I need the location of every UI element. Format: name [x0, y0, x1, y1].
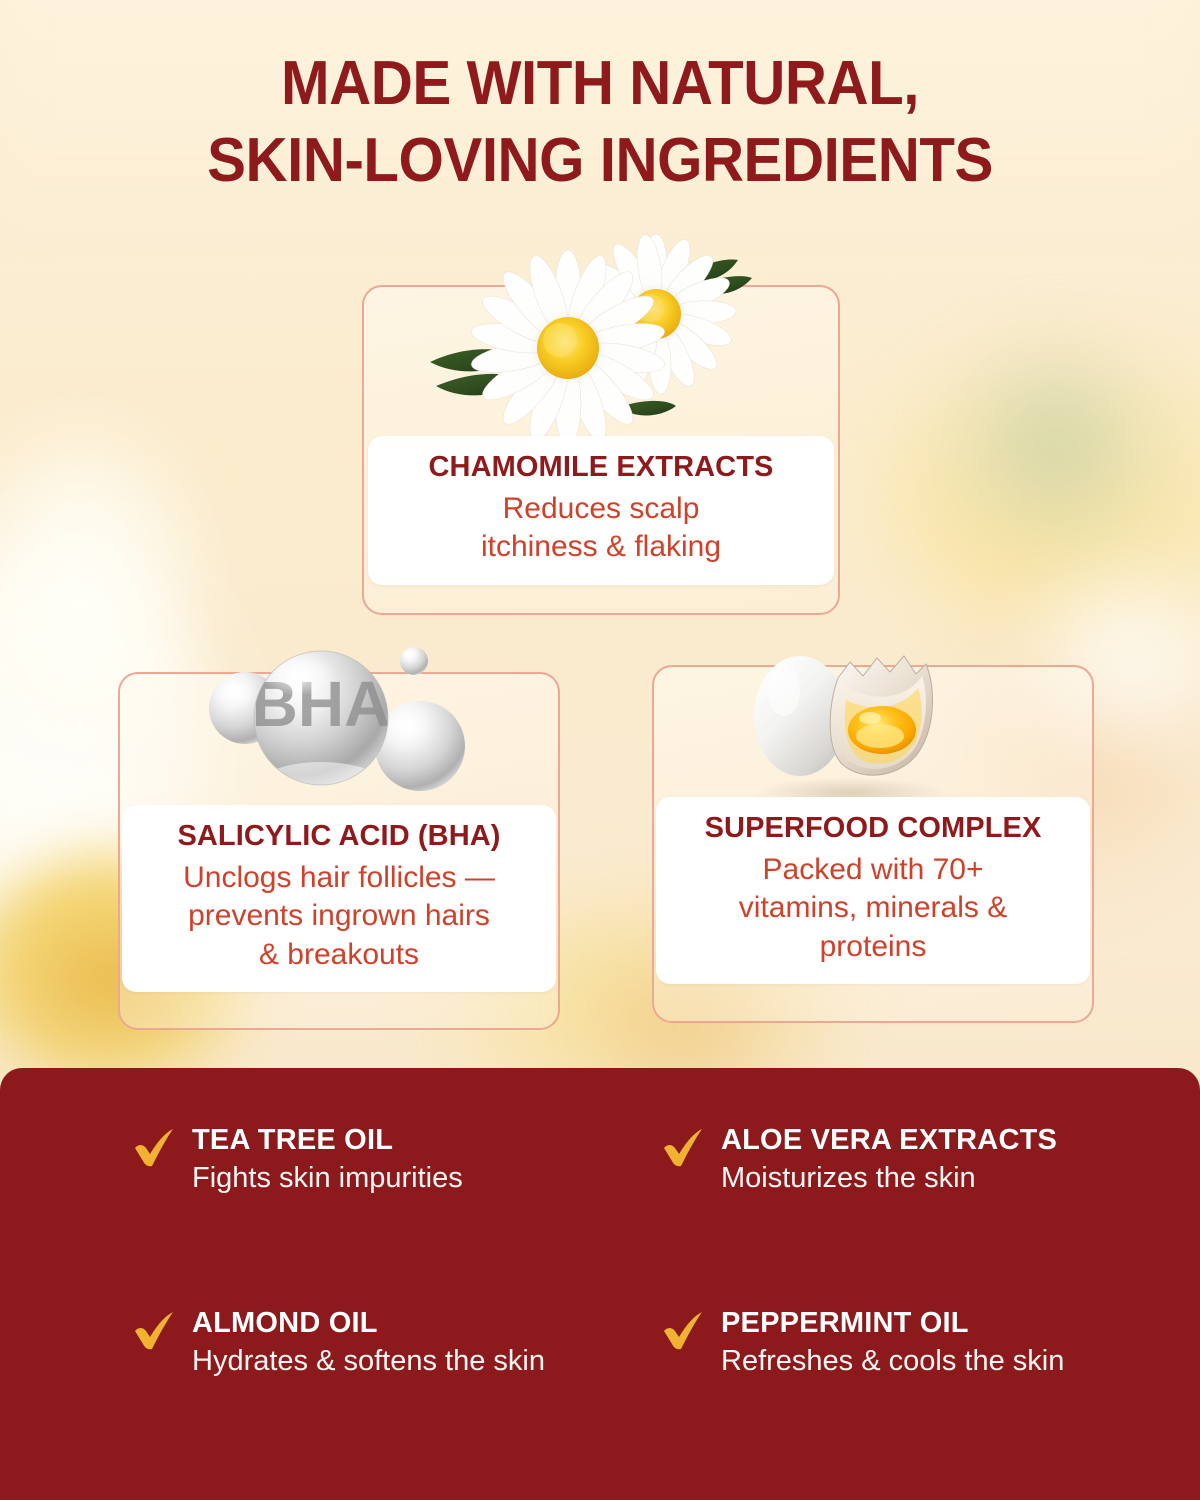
ingredient-desc-line: Packed with 70+	[668, 851, 1078, 889]
ingredient-desc-line: & breakouts	[134, 936, 544, 974]
ingredient-desc-line: vitamins, minerals &	[668, 889, 1078, 927]
ingredient-desc-line: Unclogs hair follicles —	[134, 859, 544, 897]
benefit-title: ALOE VERA EXTRACTS	[721, 1124, 1130, 1157]
benefit-item-peppermint-oil: PEPPERMINT OIL Refreshes & cools the ski…	[661, 1307, 1130, 1460]
ingredient-panel-chamomile: CHAMOMILE EXTRACTS Reduces scalp itchine…	[368, 436, 834, 585]
benefit-title: ALMOND OIL	[192, 1307, 601, 1340]
ingredient-desc-superfood-complex: Packed with 70+ vitamins, minerals & pro…	[668, 851, 1078, 966]
checkmark-icon	[661, 1311, 705, 1353]
ingredient-desc-salicylic-acid: Unclogs hair follicles — prevents ingrow…	[134, 859, 544, 974]
ingredient-desc-line: prevents ingrown hairs	[134, 897, 544, 935]
benefit-item-almond-oil: ALMOND OIL Hydrates & softens the skin	[132, 1307, 601, 1460]
page-title-line-1: MADE WITH NATURAL,	[36, 52, 1164, 115]
background-green-blur-right	[940, 330, 1170, 560]
checkmark-icon	[661, 1128, 705, 1170]
benefit-title: PEPPERMINT OIL	[721, 1307, 1130, 1340]
benefits-grid: TEA TREE OIL Fights skin impurities ALOE…	[0, 1068, 1200, 1500]
ingredient-title-chamomile: CHAMOMILE EXTRACTS	[380, 452, 822, 484]
benefit-description: Refreshes & cools the skin	[721, 1344, 1130, 1379]
benefit-item-tea-tree-oil: TEA TREE OIL Fights skin impurities	[132, 1124, 601, 1277]
benefit-description: Moisturizes the skin	[721, 1161, 1130, 1196]
ingredient-title-superfood-complex: SUPERFOOD COMPLEX	[668, 813, 1078, 845]
benefit-title: TEA TREE OIL	[192, 1124, 601, 1157]
page-title: MADE WITH NATURAL, SKIN-LOVING INGREDIEN…	[36, 52, 1164, 192]
ingredient-title-salicylic-acid: SALICYLIC ACID (BHA)	[134, 821, 544, 853]
benefit-description: Hydrates & softens the skin	[192, 1344, 601, 1379]
benefit-item-aloe-vera-extracts: ALOE VERA EXTRACTS Moisturizes the skin	[661, 1124, 1130, 1277]
benefits-band: TEA TREE OIL Fights skin impurities ALOE…	[0, 1068, 1200, 1500]
page-title-line-2: SKIN-LOVING INGREDIENTS	[36, 129, 1164, 192]
checkmark-icon	[132, 1128, 176, 1170]
ingredient-panel-salicylic-acid: SALICYLIC ACID (BHA) Unclogs hair follic…	[122, 805, 556, 992]
ingredient-desc-line: itchiness & flaking	[380, 528, 822, 566]
ingredient-panel-superfood-complex: SUPERFOOD COMPLEX Packed with 70+ vitami…	[656, 797, 1090, 984]
ingredient-desc-line: Reduces scalp	[380, 490, 822, 528]
ingredient-desc-line: proteins	[668, 928, 1078, 966]
benefit-description: Fights skin impurities	[192, 1161, 601, 1196]
ingredient-desc-chamomile: Reduces scalp itchiness & flaking	[380, 490, 822, 567]
checkmark-icon	[132, 1311, 176, 1353]
